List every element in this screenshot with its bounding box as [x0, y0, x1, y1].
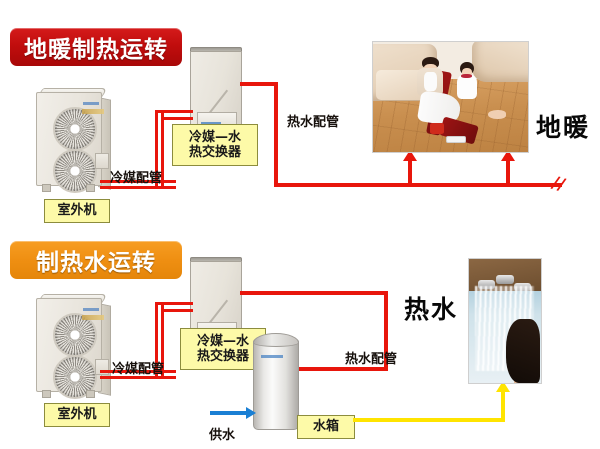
hot-water-pipe-from-hx-bottom: [240, 291, 388, 295]
outdoor-unit-foot: [86, 184, 95, 192]
photo-sofa-right: [472, 41, 529, 82]
photo-child-body: [457, 75, 477, 99]
label-hot-water-result: 热水: [404, 290, 458, 326]
label-water-supply: 供水: [209, 424, 235, 443]
water-tank-unit: [253, 333, 297, 428]
refrigerant-pipe-upper-horizontal2-top: [161, 117, 193, 120]
heat-exchanger-unit-top: [190, 47, 240, 133]
water-supply-line: [210, 411, 248, 415]
pipe-break-mark-icon: //: [550, 174, 567, 194]
vent-icon: [95, 153, 109, 169]
diagram-canvas: 地暖制热运转 室外机 冷媒—水 热交换器 冷媒配管: [0, 0, 600, 449]
label-water-tank: 水箱: [297, 415, 355, 439]
hot-water-riser-right-top: [506, 160, 510, 184]
outdoor-unit-foot: [86, 390, 95, 398]
hot-water-pipe-to-tank-bottom: [297, 367, 388, 371]
refrigerant-pipe-lower-horizontal2-top: [100, 186, 176, 189]
outdoor-unit-front-panel: [36, 92, 102, 186]
banner-floor-heating-mode: 地暖制热运转: [10, 28, 182, 66]
label-hot-water-pipe-bottom: 热水配管: [345, 348, 397, 367]
photo-woman: [415, 57, 446, 125]
label-refrigerant-pipe-top: 冷媒配管: [110, 167, 162, 186]
outdoor-unit-front-panel: [36, 298, 102, 392]
brand-mark-icon: [83, 308, 99, 311]
label-heat-exchanger-top: 冷媒—水 热交换器: [172, 124, 258, 166]
outdoor-unit-foot: [42, 184, 51, 192]
water-tank-top: [253, 333, 299, 347]
refrigerant-pipe-upper-horizontal-top: [155, 110, 193, 113]
brand-logo-icon: [82, 109, 104, 114]
outdoor-unit-top: [28, 88, 118, 190]
outdoor-unit-foot: [42, 390, 51, 398]
shower-hot-water-photo: [468, 258, 542, 384]
hot-water-pipe-floor-run-top: [274, 183, 562, 187]
label-floor-heating-result: 地暖: [536, 108, 590, 144]
hot-water-out-vertical: [501, 391, 505, 421]
banner-hot-water-mode: 制热水运转: [10, 241, 182, 279]
water-supply-arrow-icon: [246, 407, 256, 419]
photo-child-collar: [461, 74, 472, 78]
photo-bare-foot: [488, 110, 507, 119]
living-room-floor-heating-photo: [372, 41, 529, 153]
photo-woman-shirt: [424, 72, 437, 91]
label-outdoor-unit-top: 室外机: [44, 199, 110, 223]
brand-logo-icon: [82, 315, 104, 320]
water-tank-body: [253, 339, 299, 430]
hot-water-out-horizontal: [353, 418, 505, 422]
outdoor-unit-bottom: [28, 294, 118, 396]
hot-water-pipe-from-hx-top: [240, 82, 277, 86]
hot-water-riser-left-top: [408, 160, 412, 184]
label-refrigerant-pipe-bottom: 冷媒配管: [112, 358, 164, 377]
label-hot-water-pipe-top: 热水配管: [287, 111, 339, 130]
shower-head-icon: [496, 275, 513, 284]
heat-exchanger-body: [190, 51, 242, 135]
refrigerant-pipe-upper-horizontal2-bottom: [161, 309, 193, 312]
brand-mark-icon: [261, 355, 283, 358]
photo-child: [455, 62, 478, 106]
brand-mark-icon: [83, 102, 99, 105]
refrigerant-pipe-upper-horizontal-bottom: [155, 302, 193, 305]
photo-remote-control: [446, 136, 467, 144]
label-outdoor-unit-bottom: 室外机: [44, 403, 110, 427]
photo-red-toy: [430, 123, 444, 134]
photo-person-hair: [506, 319, 539, 383]
hot-water-pipe-vertical-top: [274, 82, 278, 186]
